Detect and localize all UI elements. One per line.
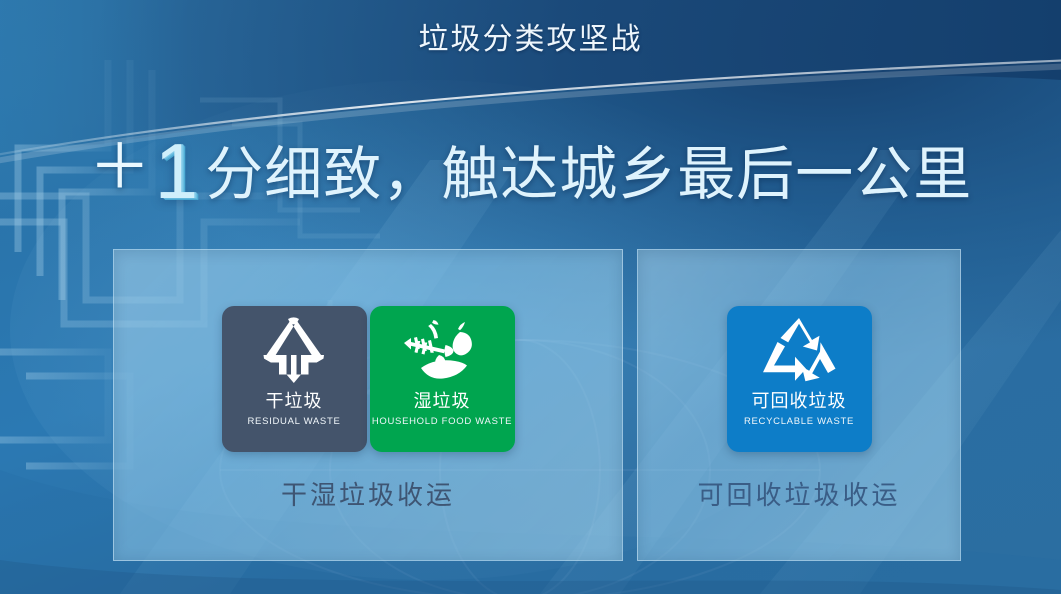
headline-number-one: 1 xyxy=(155,127,199,215)
headline: ＋1分细致，触达城乡最后一公里 xyxy=(0,132,1061,210)
tile-label-cn: 干垃圾 xyxy=(266,392,323,410)
tile-residual-waste[interactable]: 干垃圾 RESIDUAL WASTE xyxy=(222,306,367,452)
tile-label-cn: 可回收垃圾 xyxy=(752,392,847,410)
page-title: 垃圾分类攻坚战 xyxy=(0,23,1061,56)
card-recyclable-collection[interactable]: 可回收垃圾 RECYCLABLE WASTE 可回收垃圾收运 xyxy=(637,249,961,561)
tile-household-food-waste[interactable]: 湿垃圾 HOUSEHOLD FOOD WASTE xyxy=(370,306,515,452)
card-caption: 干湿垃圾收运 xyxy=(114,482,622,508)
recycle-icon xyxy=(727,312,872,390)
headline-text: 分细致，触达城乡最后一公里 xyxy=(205,142,972,207)
tile-row-dry-wet: 干垃圾 RESIDUAL WASTE xyxy=(114,306,622,452)
slide-canvas: 垃圾分类攻坚战 ＋1分细致，触达城乡最后一公里 xyxy=(0,0,1061,594)
tile-label-en: HOUSEHOLD FOOD WASTE xyxy=(372,417,512,427)
tile-recyclable-waste[interactable]: 可回收垃圾 RECYCLABLE WASTE xyxy=(727,306,872,452)
card-dry-wet-collection[interactable]: 干垃圾 RESIDUAL WASTE xyxy=(113,249,623,561)
card-caption: 可回收垃圾收运 xyxy=(638,482,960,508)
tile-row-recyclable: 可回收垃圾 RECYCLABLE WASTE xyxy=(638,306,960,452)
headline-plus-symbol: ＋ xyxy=(89,133,151,202)
tile-label-cn: 湿垃圾 xyxy=(414,392,471,410)
card-group: 干垃圾 RESIDUAL WASTE xyxy=(113,249,949,559)
tile-label-en: RESIDUAL WASTE xyxy=(247,417,340,427)
household-food-waste-icon xyxy=(370,312,515,390)
residual-waste-icon xyxy=(222,312,367,390)
tile-label-en: RECYCLABLE WASTE xyxy=(744,417,854,427)
